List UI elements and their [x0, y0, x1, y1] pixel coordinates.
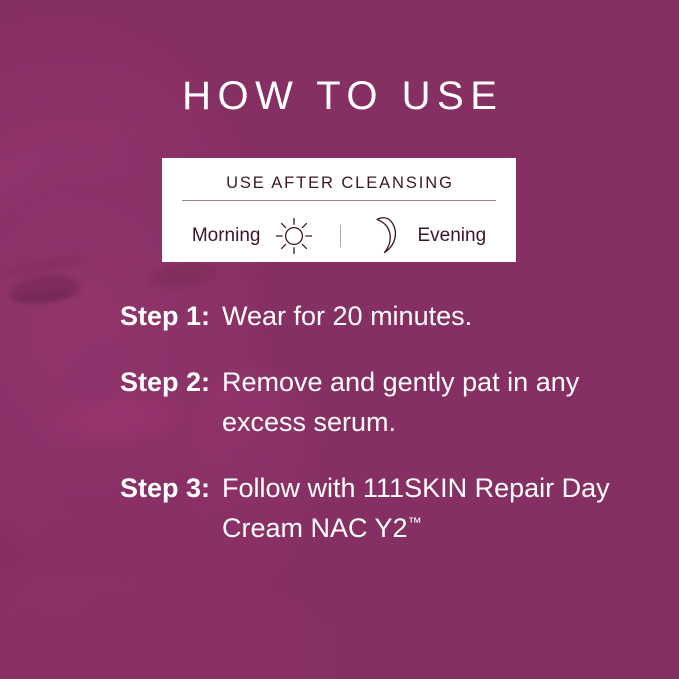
- step-text: Follow with 111SKIN Repair Day Cream NAC…: [222, 468, 642, 548]
- step-text: Remove and gently pat in any excess seru…: [222, 362, 642, 442]
- sun-icon: [274, 216, 314, 256]
- step-row: Step 3: Follow with 111SKIN Repair Day C…: [0, 468, 679, 548]
- step-text: Wear for 20 minutes.: [222, 296, 472, 336]
- page-title: HOW TO USE: [0, 74, 679, 118]
- steps-list: Step 1: Wear for 20 minutes. Step 2: Rem…: [0, 296, 679, 574]
- step-label: Step 2:: [0, 362, 210, 402]
- use-after-cleansing-card: USE AFTER CLEANSING Morning: [162, 158, 516, 262]
- step-text-body: Remove and gently pat in any excess seru…: [222, 367, 579, 437]
- poster-content: HOW TO USE USE AFTER CLEANSING Morning: [0, 0, 679, 679]
- moon-icon: [367, 216, 403, 256]
- step-label: Step 3:: [0, 468, 210, 508]
- card-divider: [182, 200, 496, 201]
- step-row: Step 2: Remove and gently pat in any exc…: [0, 362, 679, 442]
- step-row: Step 1: Wear for 20 minutes.: [0, 296, 679, 336]
- daypart-row: Morning: [162, 210, 516, 262]
- daypart-separator: [340, 225, 341, 247]
- how-to-use-poster: HOW TO USE USE AFTER CLEANSING Morning: [0, 0, 679, 679]
- step-text-body: Follow with 111SKIN Repair Day Cream NAC…: [222, 473, 610, 543]
- trademark-symbol: ™: [408, 514, 422, 530]
- step-text-body: Wear for 20 minutes.: [222, 301, 472, 331]
- card-heading: USE AFTER CLEANSING: [162, 174, 516, 193]
- morning-label: Morning: [192, 225, 261, 247]
- evening-label: Evening: [417, 225, 486, 247]
- step-label: Step 1:: [0, 296, 210, 336]
